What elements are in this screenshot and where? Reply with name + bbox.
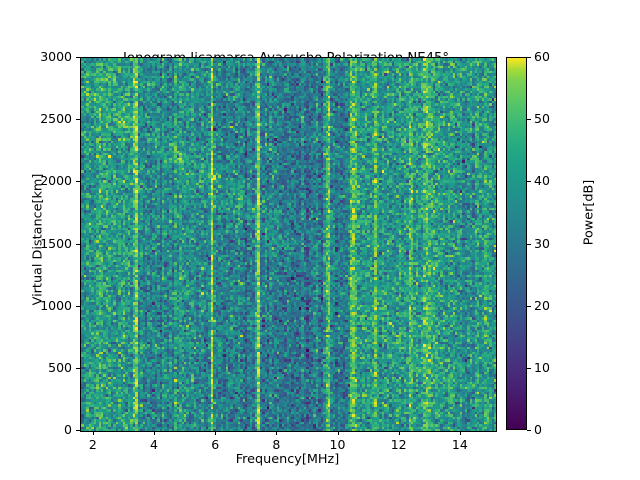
y-tick-mark [76, 306, 80, 307]
y-tick-mark [76, 119, 80, 120]
x-tick-label: 14 [430, 437, 490, 452]
x-tick-mark [338, 431, 339, 435]
colorbar-tick-label: 40 [534, 173, 550, 188]
y-tick-mark [76, 430, 80, 431]
y-tick-mark [76, 244, 80, 245]
x-tick-mark [215, 431, 216, 435]
colorbar-tick-mark [527, 368, 531, 369]
y-axis-label: Virtual Distance[km] [31, 120, 46, 360]
y-tick-label: 500 [0, 360, 72, 375]
y-tick-mark [76, 57, 80, 58]
colorbar-gradient [506, 57, 527, 430]
colorbar-tick-mark [527, 306, 531, 307]
x-tick-label: 2 [63, 437, 123, 452]
colorbar-tick-mark [527, 57, 531, 58]
colorbar-tick-label: 50 [534, 111, 550, 126]
x-tick-mark [460, 431, 461, 435]
colorbar-tick-label: 10 [534, 360, 550, 375]
x-tick-mark [276, 431, 277, 435]
colorbar-tick-mark [527, 181, 531, 182]
ionogram-heatmap [81, 58, 496, 431]
colorbar-tick-mark [527, 119, 531, 120]
y-tick-label: 3000 [0, 49, 72, 64]
colorbar-tick-label: 0 [534, 422, 542, 437]
x-tick-mark [93, 431, 94, 435]
x-axis-label: Frequency[MHz] [80, 452, 495, 467]
colorbar: 0102030405060 [506, 57, 527, 430]
heatmap-plot-area [80, 57, 497, 432]
x-tick-mark [399, 431, 400, 435]
colorbar-tick-label: 60 [534, 49, 550, 64]
ionogram-figure: Ionogram Jicamarca-Ayacucho Polarization… [0, 0, 640, 480]
x-tick-label: 12 [369, 437, 429, 452]
colorbar-tick-label: 20 [534, 298, 550, 313]
x-tick-label: 6 [185, 437, 245, 452]
colorbar-tick-label: 30 [534, 236, 550, 251]
colorbar-label: Power[dB] [582, 133, 597, 293]
x-tick-label: 10 [308, 437, 368, 452]
y-tick-label: 0 [0, 422, 72, 437]
y-tick-mark [76, 181, 80, 182]
x-tick-label: 8 [246, 437, 306, 452]
colorbar-tick-mark [527, 244, 531, 245]
colorbar-tick-mark [527, 430, 531, 431]
x-tick-label: 4 [124, 437, 184, 452]
y-tick-mark [76, 368, 80, 369]
x-tick-mark [154, 431, 155, 435]
